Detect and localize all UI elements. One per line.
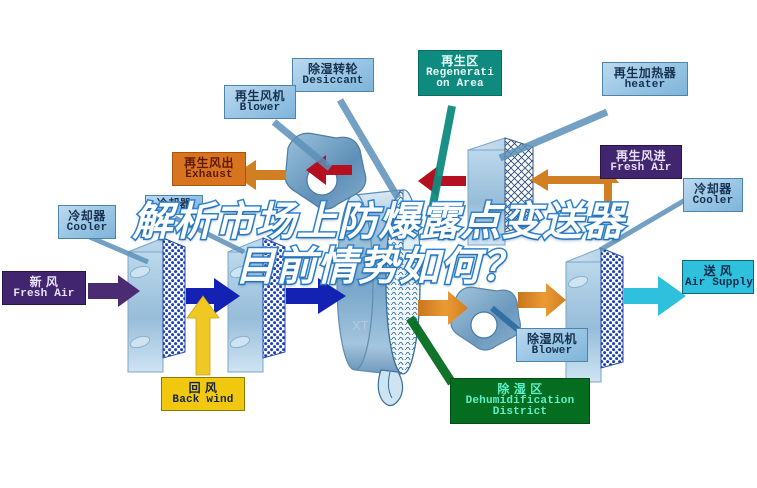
desiccant-rotor-wheel: XT [337,190,420,406]
arrow-air-supply [624,276,686,316]
label-regeneration-fresh-air: 再生风进 Fresh Air [600,145,682,179]
label-desiccant-en: Desiccant [295,76,371,88]
svg-text:XT: XT [352,318,369,333]
label-regeneration-area: 再生区 Regenerati on Area [418,50,502,96]
label-dehumidification-blower: 除湿风机 Blower [516,328,588,362]
cooler-coil-mid [228,238,285,372]
arrow-to-supply-coil [518,283,566,317]
label-dehum-blower-cn: 除湿风机 [519,333,585,346]
label-exhaust: 再生风出 Exhaust [172,152,246,186]
diagram-canvas: XT [0,0,757,488]
label-exhaust-cn: 再生风出 [175,157,243,170]
label-desiccant-cn: 除湿转轮 [295,63,371,76]
label-regen-heater-cn: 再生加热器 [605,67,685,80]
label-regen-heater-en: heater [605,80,685,92]
label-cooler-right-en: Cooler [686,196,740,208]
label-cooler-right: 冷却器 Cooler [683,178,743,212]
label-regen-fresh-air-en: Fresh Air [603,163,679,175]
label-cooler-mid: 冷却器 [145,195,203,215]
label-cooler-left-cn: 冷却器 [61,210,113,223]
label-back-wind-en: Back wind [164,395,242,407]
label-fresh-air-inlet: 新 风 Fresh Air [2,271,86,305]
label-dehum-district-cn: 除 湿 区 [453,383,587,396]
label-cooler-left: 冷却器 Cooler [58,205,116,239]
label-regen-blower-en: Blower [227,103,293,115]
label-regen-blower-cn: 再生风机 [227,90,293,103]
label-air-supply: 送 风 Air Supply [682,260,754,294]
label-dehum-district-en2: District [453,407,587,419]
label-back-wind: 回 风 Back wind [161,377,245,411]
label-regen-area-cn: 再生区 [421,55,499,68]
arrow-regen-to-heater [530,169,604,191]
label-dehumidification-district: 除 湿 区 Dehumidification District [450,378,590,424]
label-air-supply-en: Air Supply [685,278,751,290]
label-exhaust-en: Exhaust [175,170,243,182]
label-regen-area-en2: on Area [421,79,499,91]
label-regeneration-heater: 再生加热器 heater [602,62,688,96]
label-air-supply-cn: 送 风 [685,265,751,278]
dehumidification-blower-fan [451,287,520,350]
label-fresh-air-cn: 新 风 [5,276,83,289]
label-desiccant: 除湿转轮 Desiccant [292,58,374,92]
label-regen-fresh-air-cn: 再生风进 [603,150,679,163]
label-regeneration-blower: 再生风机 Blower [224,85,296,119]
label-cooler-right-cn: 冷却器 [686,183,740,196]
label-back-wind-cn: 回 风 [164,382,242,395]
label-cooler-mid-cn: 冷却器 [148,199,200,211]
label-cooler-left-en: Cooler [61,223,113,235]
label-dehum-blower-en: Blower [519,346,585,358]
label-fresh-air-en: Fresh Air [5,289,83,301]
